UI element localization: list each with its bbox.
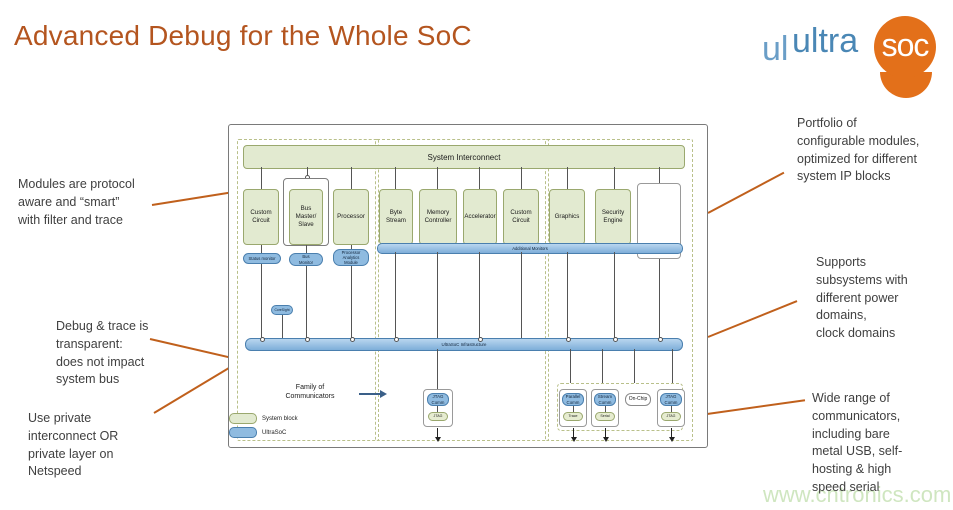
block-processor[interactable]: Processor bbox=[333, 189, 369, 245]
callout-line: communicators, bbox=[812, 408, 902, 426]
arrow-down-icon bbox=[573, 428, 574, 438]
communicator-label: JTAG Comm bbox=[665, 394, 678, 405]
block-custom-circuit-1[interactable]: Custom Circuit bbox=[243, 189, 279, 245]
callout-line: system IP blocks bbox=[797, 168, 919, 186]
block-bus-master-slave[interactable]: Bus Master/ Slave bbox=[289, 189, 323, 245]
callout-supports-subsystems: Supports subsystems with different power… bbox=[816, 254, 908, 343]
wire bbox=[567, 252, 568, 339]
block-label: Security Engine bbox=[602, 209, 624, 225]
wire bbox=[479, 252, 480, 339]
callout-line: aware and “smart” bbox=[18, 194, 135, 212]
arrow-down-icon bbox=[605, 428, 606, 438]
connector-serial[interactable]: Serial bbox=[595, 412, 615, 421]
communicator-jtag-comm-center[interactable]: JTAG Comm bbox=[427, 393, 449, 406]
wire-node bbox=[394, 337, 399, 342]
legend-item-ultrasoc: UltraSoC bbox=[229, 427, 347, 438]
communicator-jtag-comm-right[interactable]: JTAG Comm bbox=[660, 393, 682, 406]
family-of-communicators-label: Family of Communicators bbox=[265, 383, 355, 402]
monitor-processor-analytics-module[interactable]: Processor Analytics Module bbox=[333, 249, 369, 266]
wire bbox=[261, 245, 262, 253]
connector-label: Serial bbox=[600, 414, 609, 418]
communicator-label: Stream Comm bbox=[598, 394, 612, 405]
block-security-engine[interactable]: Security Engine bbox=[595, 189, 631, 245]
callout-line: Debug & trace is bbox=[56, 318, 148, 336]
callout-line: interconnect OR bbox=[28, 428, 118, 446]
block-memory-controller[interactable]: Memory Controller bbox=[419, 189, 457, 245]
callout-line: domains, bbox=[816, 307, 908, 325]
additional-monitors-bar: Additional Monitors bbox=[377, 243, 683, 254]
wire bbox=[261, 167, 262, 189]
connector-trace[interactable]: Trace bbox=[563, 412, 583, 421]
legend-swatch-blue bbox=[229, 427, 257, 438]
wire bbox=[437, 349, 438, 391]
legend-label: UltraSoC bbox=[262, 430, 286, 436]
callout-line: hosting & high bbox=[812, 461, 902, 479]
family-label-line: Communicators bbox=[285, 393, 334, 400]
callout-line: speed serial bbox=[812, 479, 902, 497]
wire bbox=[614, 167, 615, 189]
connector-label: Trace bbox=[568, 414, 577, 418]
soc-diagram: System Interconnect Custom Circuit Bus M… bbox=[228, 124, 708, 448]
arrow-right-icon bbox=[359, 393, 381, 395]
connector-label: JTAG bbox=[434, 414, 443, 418]
callout-line: including bare bbox=[812, 426, 902, 444]
callout-line: Use private bbox=[28, 410, 118, 428]
leader-line-portfolio bbox=[708, 172, 785, 214]
arrow-down-icon bbox=[437, 428, 438, 438]
block-private-node[interactable]: CoreSight bbox=[271, 305, 293, 315]
callout-line: Modules are protocol bbox=[18, 176, 135, 194]
callout-line: private layer on bbox=[28, 446, 118, 464]
callout-line: Supports bbox=[816, 254, 908, 272]
block-label: Memory Controller bbox=[425, 209, 452, 225]
wire-node bbox=[658, 337, 663, 342]
callout-line: clock domains bbox=[816, 325, 908, 343]
logo-word-text: ultra bbox=[792, 24, 858, 58]
monitor-label: Processor Analytics Module bbox=[342, 250, 361, 266]
callout-debug-trace-transparent: Debug & trace is transparent: does not i… bbox=[56, 318, 148, 389]
block-label: Bus Master/ Slave bbox=[296, 205, 317, 228]
wire-node bbox=[305, 337, 310, 342]
ultrasoc-logo: ul ultra soc bbox=[762, 10, 942, 76]
monitor-label: Bus Monitor bbox=[299, 254, 313, 265]
communicator-label: Parallel Comm bbox=[566, 394, 581, 405]
wire bbox=[261, 264, 262, 339]
callout-line: does not impact bbox=[56, 354, 148, 372]
block-label: CoreSight bbox=[274, 308, 289, 312]
communicator-stream-comm[interactable]: Stream Comm bbox=[594, 393, 616, 406]
callout-line: transparent: bbox=[56, 336, 148, 354]
wire bbox=[479, 167, 480, 189]
block-label: Graphics bbox=[555, 213, 580, 221]
page-title: Advanced Debug for the Whole SoC bbox=[14, 20, 472, 52]
group-boundary-2 bbox=[375, 139, 549, 441]
communicator-label: On-Chip bbox=[629, 396, 648, 402]
callout-line: Portfolio of bbox=[797, 115, 919, 133]
wire bbox=[437, 167, 438, 189]
callout-wide-range-communicators: Wide range of communicators, including b… bbox=[812, 390, 902, 497]
family-label-line: Family of bbox=[296, 384, 324, 391]
wire-node bbox=[613, 337, 618, 342]
callout-line: different power bbox=[816, 290, 908, 308]
block-label: Custom Circuit bbox=[250, 209, 271, 225]
legend: System block UltraSoC bbox=[229, 413, 347, 441]
wire bbox=[659, 259, 660, 339]
block-custom-circuit-2[interactable]: Custom Circuit bbox=[503, 189, 539, 245]
wire bbox=[351, 266, 352, 339]
callout-line: Netspeed bbox=[28, 463, 118, 481]
wire bbox=[395, 252, 396, 339]
callout-line: subsystems with bbox=[816, 272, 908, 290]
monitor-label: Status monitor bbox=[249, 256, 276, 261]
callout-modules-protocol-aware: Modules are protocol aware and “smart” w… bbox=[18, 176, 135, 229]
connector-jtag-center[interactable]: JTAG bbox=[428, 412, 448, 421]
logo-circle-text: soc bbox=[874, 29, 936, 61]
connector-jtag-right[interactable]: JTAG bbox=[661, 412, 681, 421]
leader-line-modules bbox=[152, 191, 233, 206]
wire-node bbox=[260, 337, 265, 342]
callout-portfolio-configurable-modules: Portfolio of configurable modules, optim… bbox=[797, 115, 919, 186]
wire bbox=[521, 167, 522, 189]
monitor-bus-monitor[interactable]: Bus Monitor bbox=[289, 253, 323, 266]
connector-label: JTAG bbox=[667, 414, 676, 418]
block-label: Accelerator bbox=[464, 213, 495, 221]
wire bbox=[351, 167, 352, 189]
callout-line: configurable modules, bbox=[797, 133, 919, 151]
wire bbox=[567, 167, 568, 189]
leader-line-communicators bbox=[700, 399, 805, 416]
block-accelerator[interactable]: Accelerator bbox=[463, 189, 497, 245]
communicator-parallel-comm[interactable]: Parallel Comm bbox=[562, 393, 584, 406]
callout-private-interconnect: Use private interconnect OR private laye… bbox=[28, 410, 118, 481]
callout-line: metal USB, self- bbox=[812, 443, 902, 461]
callout-line: with filter and trace bbox=[18, 212, 135, 230]
system-interconnect-bar: System Interconnect bbox=[243, 145, 685, 169]
monitor-status-monitor[interactable]: Status monitor bbox=[243, 253, 281, 264]
legend-item-system-block: System block bbox=[229, 413, 347, 424]
wire-node bbox=[350, 337, 355, 342]
block-graphics[interactable]: Graphics bbox=[549, 189, 585, 245]
communicator-on-chip-comm[interactable]: On-Chip bbox=[625, 393, 651, 406]
wire bbox=[521, 252, 522, 339]
callout-line: Wide range of bbox=[812, 390, 902, 408]
wire bbox=[395, 167, 396, 189]
legend-swatch-green bbox=[229, 413, 257, 424]
callout-line: optimized for different bbox=[797, 151, 919, 169]
wire-node bbox=[566, 337, 571, 342]
wire bbox=[306, 266, 307, 339]
block-label: Custom Circuit bbox=[510, 209, 531, 225]
communicator-label: JTAG Comm bbox=[432, 394, 445, 405]
arrow-down-icon bbox=[671, 428, 672, 438]
logo-mark-text: ul bbox=[762, 32, 788, 66]
wire bbox=[282, 315, 283, 339]
block-byte-stream[interactable]: Byte Stream bbox=[379, 189, 413, 245]
wire bbox=[614, 252, 615, 339]
leader-line-subsystems bbox=[708, 300, 798, 338]
block-label: Byte Stream bbox=[386, 209, 406, 225]
block-label: Processor bbox=[337, 213, 365, 221]
wire bbox=[306, 245, 307, 253]
legend-label: System block bbox=[262, 416, 298, 422]
callout-line: system bus bbox=[56, 371, 148, 389]
wire bbox=[437, 252, 438, 339]
wire-node bbox=[478, 337, 483, 342]
